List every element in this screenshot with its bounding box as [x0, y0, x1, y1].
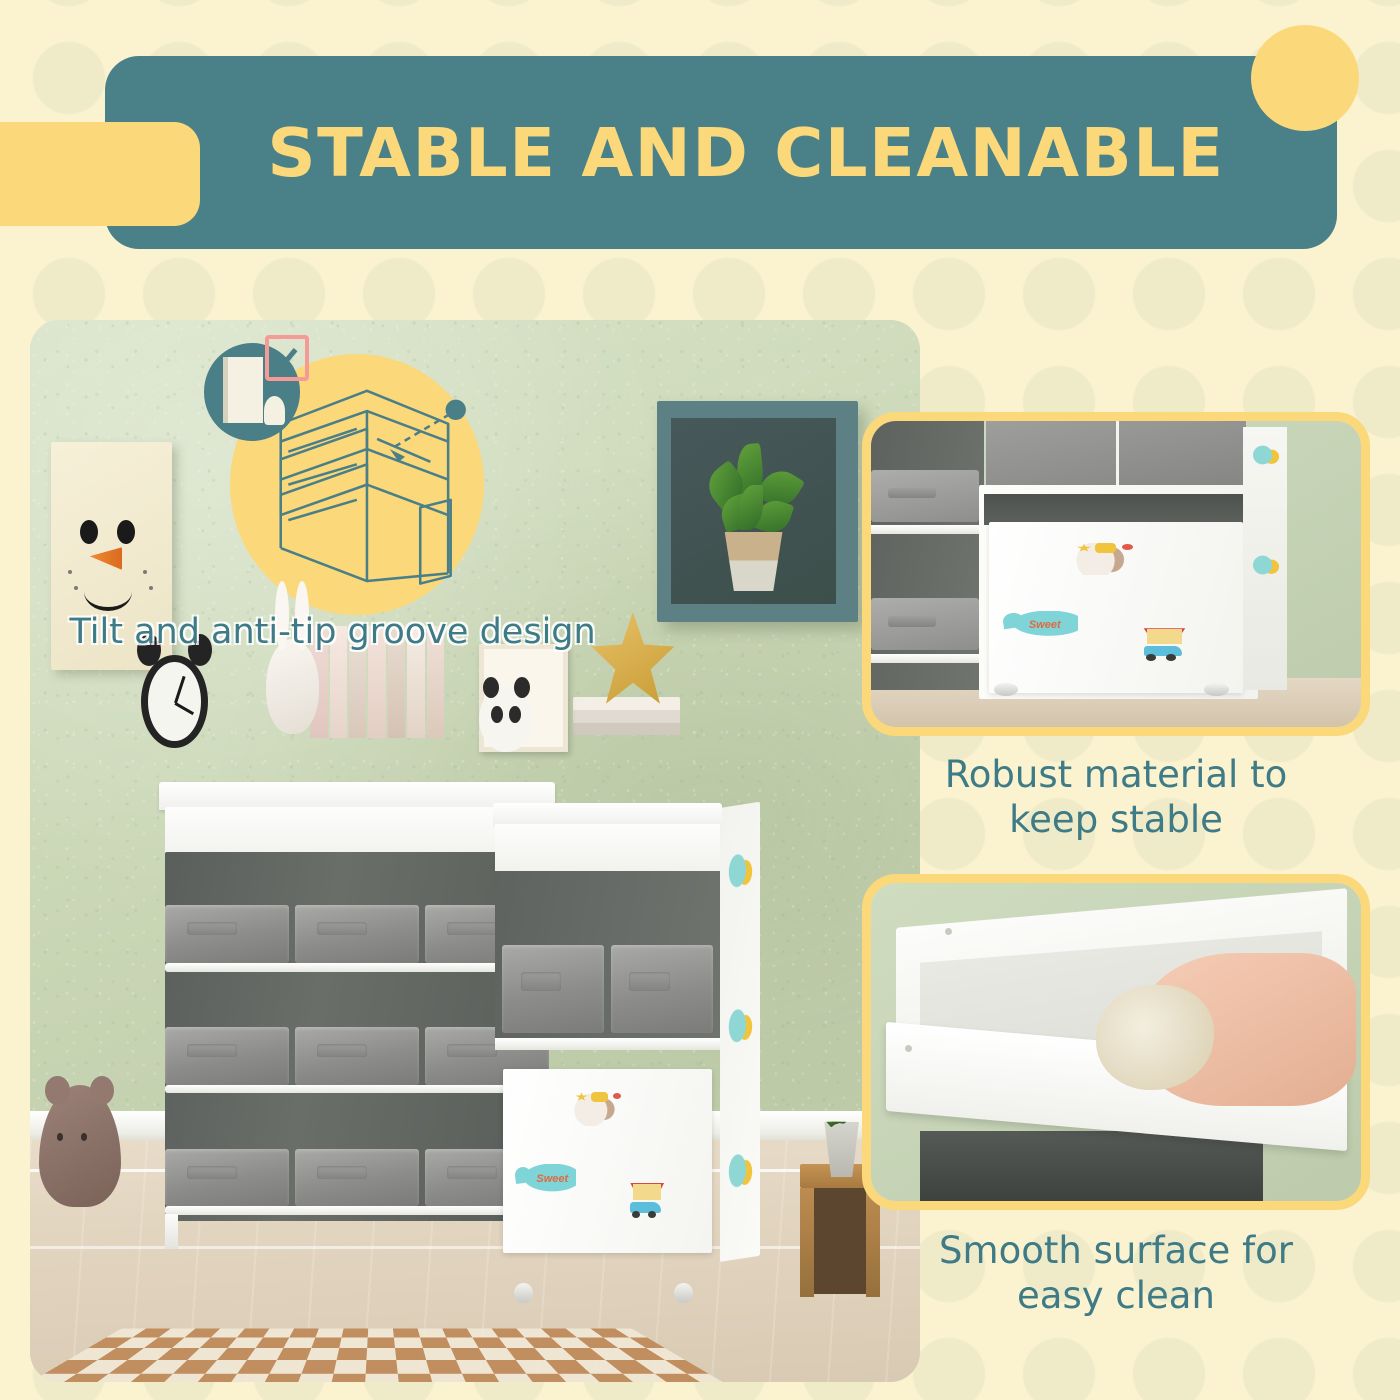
card1-upper-bin-pair[interactable] [986, 421, 1246, 488]
side-sticker [727, 839, 753, 902]
bear-eye-icon [81, 1133, 87, 1140]
snowman-eye-icon [117, 520, 135, 544]
dog-sticker-icon [574, 1091, 622, 1126]
organizer-leg [165, 1214, 178, 1249]
storage-bin[interactable] [295, 1027, 419, 1085]
cabinet-glyph-icon [223, 357, 263, 423]
panda-figurine [479, 686, 532, 752]
sweet-sticker-label: Sweet [1029, 619, 1061, 631]
card1-caption-line1: Robust material to [862, 752, 1370, 797]
speech-bubble-sticker-icon [591, 1092, 608, 1102]
card1-cabinet-cavity [984, 494, 1249, 525]
panda-ear-icon [514, 677, 530, 698]
detail-card-robust-material: Sweet [862, 412, 1370, 736]
card-photo-frame: Sweet [862, 412, 1370, 736]
organizer-front-rail [165, 807, 549, 856]
sweet-sticker-label: Sweet [536, 1173, 568, 1185]
card2-cabinet-under-shadow [920, 1131, 1263, 1201]
card2-caption-line1: Smooth surface for [862, 1228, 1370, 1273]
organizer-shelf-row [165, 1096, 549, 1207]
storage-bin[interactable] [165, 1027, 289, 1085]
card2-caption-line2: easy clean [862, 1273, 1370, 1318]
card-photo-frame [862, 874, 1370, 1210]
cabinet-caster [514, 1283, 533, 1303]
bear-ear-icon [45, 1076, 70, 1105]
checkmark-box-icon [265, 335, 310, 381]
train-wheel-icon [632, 1211, 640, 1218]
snowman-carrot-nose-icon [90, 547, 122, 570]
shelf-divider [871, 525, 984, 534]
sticker-drawer[interactable]: Sweet [503, 1069, 711, 1253]
cabinet-caster [1204, 683, 1229, 697]
sweet-sticker-icon: Sweet [1001, 611, 1077, 640]
card1-caption: Robust material to keep stable [862, 752, 1370, 842]
bear-eye-icon [57, 1133, 63, 1140]
dog-sticker-icon [1075, 543, 1134, 576]
balloon-sticker-icon [514, 1166, 532, 1184]
hero-room-photo: Tilt and anti-tip groove design [30, 320, 920, 1382]
snowman-freckle [149, 586, 153, 590]
snowman-smile-icon [84, 572, 132, 611]
organizer-shelf-row [165, 974, 549, 1085]
balloon-sticker-icon [1002, 612, 1024, 630]
stool-back-panel [814, 1188, 868, 1294]
sweet-sticker-icon: Sweet [514, 1164, 576, 1195]
book-stack [573, 697, 680, 735]
organizer-divider [165, 1085, 549, 1094]
stool-leg [800, 1188, 814, 1297]
screw-icon [945, 928, 952, 935]
storage-bin[interactable] [165, 905, 289, 963]
train-house-sticker-icon [1136, 628, 1197, 662]
wall-box-shelf [657, 401, 857, 622]
panda-eye-icon [509, 706, 521, 723]
cabinet-shelf-divider [495, 1038, 719, 1051]
check-tick-icon [269, 340, 297, 369]
snowman-freckle [143, 570, 147, 574]
storage-bin[interactable] [502, 945, 604, 1033]
child-figure-icon [264, 396, 285, 425]
train-wheel-icon [1166, 654, 1176, 661]
storage-bin[interactable] [165, 1149, 289, 1207]
bunny-figurine [266, 639, 319, 735]
card1-cabinet-side-panel [1243, 427, 1287, 690]
side-sticker [727, 994, 753, 1057]
alarm-clock [141, 655, 208, 748]
plant-pot [721, 532, 787, 591]
cabinet-side-panel [720, 802, 760, 1263]
panda-ear-icon [483, 677, 499, 698]
snowman-freckle [68, 570, 72, 574]
side-sticker [1251, 548, 1280, 582]
cabinet-front-rail [495, 824, 719, 872]
card1-sticker-door[interactable]: Sweet [989, 522, 1244, 693]
snowman-freckle [74, 586, 78, 590]
flower-sticker-icon [1122, 544, 1133, 550]
storage-bin[interactable] [611, 945, 713, 1033]
shelf-divider [871, 654, 984, 663]
page-title: STABLE AND CLEANABLE [105, 56, 1337, 249]
train-house-sticker-icon [624, 1183, 674, 1220]
train-wheel-icon [1146, 654, 1156, 661]
bin-separator [1116, 421, 1119, 488]
snowman-eye-icon [80, 520, 98, 544]
side-sticker [1251, 438, 1280, 472]
organizer-divider [165, 1206, 549, 1215]
organizer-body [165, 852, 549, 1221]
cabinet-bin-row [502, 945, 713, 1033]
shelf-interior [671, 418, 835, 604]
storage-bin[interactable] [295, 905, 419, 963]
train-wheel-icon [648, 1211, 656, 1218]
house-body-icon [633, 1184, 661, 1200]
star-sticker-icon [1076, 544, 1091, 552]
flower-sticker-icon [613, 1093, 622, 1099]
storage-bin[interactable] [871, 598, 979, 650]
panda-eye-icon [491, 706, 503, 723]
page-header: STABLE AND CLEANABLE [0, 0, 1400, 268]
detail-card-smooth-surface [862, 874, 1370, 1210]
speech-bubble-sticker-icon [1095, 543, 1116, 553]
organizer-divider [165, 963, 549, 972]
side-sticker [727, 1139, 753, 1202]
hero-caption: Tilt and anti-tip groove design [30, 612, 635, 652]
card2-caption: Smooth surface for easy clean [862, 1228, 1370, 1318]
organizer-shelf-row [165, 852, 549, 963]
storage-bin[interactable] [871, 470, 979, 522]
house-body-icon [1147, 629, 1181, 644]
star-sticker-icon [575, 1092, 587, 1101]
card1-caption-line2: keep stable [862, 797, 1370, 842]
rolling-cabinet-unit: Sweet [493, 803, 760, 1286]
cabinet-open-cubby [495, 871, 719, 1040]
storage-bin[interactable] [295, 1149, 419, 1207]
